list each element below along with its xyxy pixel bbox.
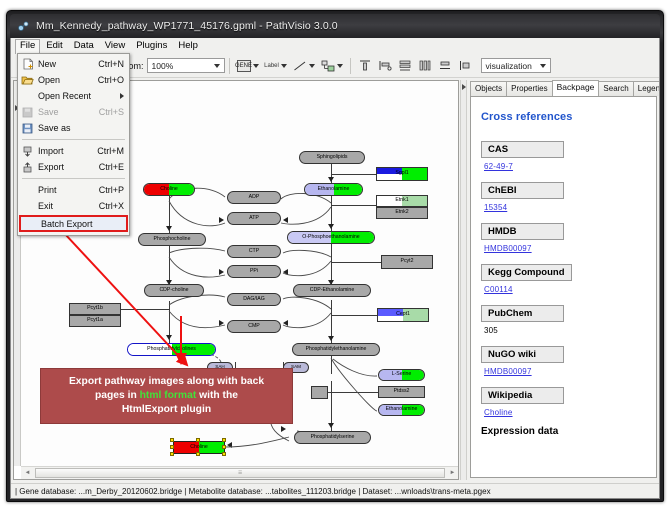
pathway-node-dag-iag[interactable]: DAG/IAG xyxy=(227,293,281,306)
pathway-node-pcyt1b[interactable]: Pcyt1b xyxy=(69,303,121,315)
menu-item-batch-export[interactable]: Batch Export xyxy=(19,215,128,232)
align-left-icon xyxy=(378,59,392,72)
node-label: Pcyt2 xyxy=(401,259,414,264)
menu-item-label: Batch Export xyxy=(41,219,126,229)
menu-item-label: Save as xyxy=(38,123,124,133)
menu-item-label: Exit xyxy=(38,201,99,211)
shape-tool-button[interactable] xyxy=(319,57,337,74)
import-icon xyxy=(20,145,35,158)
pathway-node-etnk1[interactable]: Etnk1 xyxy=(376,195,428,207)
menu-item-label: Open Recent xyxy=(38,91,120,101)
pathway-node-choline[interactable]: Choline xyxy=(143,183,195,196)
node-label: CDP-choline xyxy=(159,288,188,293)
xref-header-nugo-wiki: NuGO wiki xyxy=(481,346,564,363)
line-icon xyxy=(293,60,307,72)
window-titlebar[interactable]: Mm_Kennedy_pathway_WP1771_45176.gpml - P… xyxy=(10,14,660,38)
xref-link-cas[interactable]: 62-49-7 xyxy=(484,162,646,171)
menu-data[interactable]: Data xyxy=(69,39,99,54)
canvas-horizontal-scrollbar[interactable]: ◄ ► xyxy=(21,466,459,479)
menu-separator xyxy=(22,139,125,140)
pathway-node-l-serine[interactable]: L-Serine xyxy=(378,369,425,381)
scroll-thumb[interactable] xyxy=(35,468,445,478)
node-label: Pcyt1a xyxy=(87,318,103,323)
chevron-down-icon xyxy=(540,64,546,68)
pathvisio-icon xyxy=(17,20,30,33)
folder-open-icon xyxy=(20,74,35,87)
pathway-node-cdp-choline[interactable]: CDP-choline xyxy=(144,284,204,297)
xref-header-chebi: ChEBI xyxy=(481,182,564,199)
blank-icon xyxy=(23,217,38,230)
xref-header-hmdb: HMDB xyxy=(481,223,564,240)
toolbar-separator-2 xyxy=(350,58,351,74)
backpage-title: Cross references xyxy=(481,111,646,123)
tab-objects[interactable]: Objects xyxy=(470,81,507,96)
align-columns-button[interactable] xyxy=(416,57,434,74)
application-window: Mm_Kennedy_pathway_WP1771_45176.gpml - P… xyxy=(6,10,664,502)
pathway-node-cmp[interactable]: CMP xyxy=(227,320,281,333)
blank-icon xyxy=(20,90,35,103)
align-rows-button[interactable] xyxy=(396,57,414,74)
file-dropdown-menu[interactable]: New Ctrl+N Open Ctrl+O Open Recen xyxy=(17,53,130,236)
new-document-icon xyxy=(20,58,35,71)
menu-item-print[interactable]: Print Ctrl+P xyxy=(18,182,129,198)
line-tool-button[interactable] xyxy=(291,57,309,74)
xref-link-wikipedia[interactable]: Choline xyxy=(484,408,646,417)
pathway-node-phosphocholine[interactable]: Phosphocholine xyxy=(138,233,206,246)
side-panel-tabstrip: Objects Properties Backpage Search Legen… xyxy=(468,80,659,96)
menu-item-label: Export xyxy=(38,162,99,172)
align-columns-icon xyxy=(418,59,432,72)
selection-handle[interactable] xyxy=(170,438,174,442)
scroll-left-icon[interactable]: ◄ xyxy=(21,467,34,479)
annotation-line-3: HtmlExport plugin xyxy=(122,404,211,415)
desktop-background: Mm_Kennedy_pathway_WP1771_45176.gpml - P… xyxy=(0,0,670,509)
line-dropdown-chevron-icon[interactable] xyxy=(309,64,315,68)
pathway-node-phosphatidylserine[interactable]: Phosphatidylserine xyxy=(294,431,371,444)
gene-tool-button[interactable]: GENE xyxy=(235,57,253,74)
pathway-node-pcyt1a[interactable]: Pcyt1a xyxy=(69,315,121,327)
window-title: Mm_Kennedy_pathway_WP1771_45176.gpml - P… xyxy=(36,20,338,32)
pathway-node-cept1[interactable]: Cept1 xyxy=(377,308,429,322)
node-label: ATP xyxy=(249,216,259,221)
menu-plugins[interactable]: Plugins xyxy=(131,39,172,54)
node-label: Phosphatidylcholines xyxy=(147,347,196,352)
xref-header-wikipedia: Wikipedia xyxy=(481,387,564,404)
stack-horizontal-icon xyxy=(438,59,452,72)
node-label: O-Phosphoethanolamine xyxy=(302,235,359,240)
align-left-button[interactable] xyxy=(376,57,394,74)
node-label: Choline xyxy=(190,445,208,450)
stack-vertical-icon xyxy=(458,59,472,72)
xref-header-kegg-compound: Kegg Compound xyxy=(481,264,572,281)
export-icon xyxy=(20,161,35,174)
node-label: Etnk1 xyxy=(395,198,408,203)
node-label: Pcyt1b xyxy=(87,306,103,311)
menu-item-import[interactable]: Import Ctrl+M xyxy=(18,143,129,159)
menu-item-label: Open xyxy=(38,75,98,85)
gene-dropdown-chevron-icon[interactable] xyxy=(253,64,259,68)
tab-legend[interactable]: Legend xyxy=(633,81,660,96)
xref-link-hmdb[interactable]: HMDB00097 xyxy=(484,244,646,253)
selection-handle[interactable] xyxy=(222,438,226,442)
scroll-right-icon[interactable]: ► xyxy=(446,467,459,479)
node-label: Phosphatidylethanolamine xyxy=(306,347,367,352)
menu-item-accel: Ctrl+X xyxy=(99,201,124,211)
toolbar-separator xyxy=(229,58,230,74)
node-label: Cept1 xyxy=(396,312,410,317)
chevron-down-icon xyxy=(214,64,220,68)
node-label: Choline xyxy=(160,187,178,192)
pathway-node-unlabeled-1[interactable] xyxy=(311,386,328,399)
selection-handle[interactable] xyxy=(196,438,200,442)
pathway-node-atp[interactable]: ATP xyxy=(227,212,281,225)
align-top-button[interactable] xyxy=(356,57,374,74)
menu-item-open[interactable]: Open Ctrl+O xyxy=(18,72,129,88)
pathway-node-phosphatidylcholines[interactable]: Phosphatidylcholines xyxy=(127,343,216,356)
blank-icon xyxy=(20,200,35,213)
selection-handle[interactable] xyxy=(196,452,200,456)
selection-handle[interactable] xyxy=(170,445,174,449)
shape-dropdown-chevron-icon[interactable] xyxy=(337,64,343,68)
label-dropdown-chevron-icon[interactable] xyxy=(281,64,287,68)
menu-item-accel: Ctrl+E xyxy=(99,162,124,172)
xref-value-pubchem: 305 xyxy=(484,326,646,335)
menu-view[interactable]: View xyxy=(100,39,130,54)
label-tool-button[interactable]: Label xyxy=(263,57,281,74)
menu-item-accel: Ctrl+O xyxy=(98,75,124,85)
menu-item-label: Import xyxy=(38,146,97,156)
annotation-line-1: Export pathway images along with back xyxy=(69,376,264,387)
pathway-node-adp[interactable]: ADP xyxy=(227,191,281,204)
annotation-callout: Export pathway images along with back pa… xyxy=(40,368,293,424)
pathway-node-o-phosphoethanolamine[interactable]: O-Phosphoethanolamine xyxy=(287,231,375,244)
visualization-combobox[interactable]: visualization xyxy=(481,58,551,73)
selection-handle[interactable] xyxy=(222,445,226,449)
node-label: Sphingolipids xyxy=(317,155,348,160)
pathway-node-cdp-ethanolamine[interactable]: CDP-Ethanolamine xyxy=(293,284,371,297)
node-label: Ptdss2 xyxy=(394,389,410,394)
menu-item-save: Save Ctrl+S xyxy=(18,104,129,120)
node-label: CMP xyxy=(248,324,260,329)
node-label: CDP-Ethanolamine xyxy=(310,288,354,293)
annotation-line-2-prefix: pages in xyxy=(95,390,140,401)
menu-item-exit[interactable]: Exit Ctrl+X xyxy=(18,198,129,214)
menu-edit[interactable]: Edit xyxy=(41,39,67,54)
zoom-value: 100% xyxy=(152,61,174,71)
node-label: Ethanolamine xyxy=(386,407,418,412)
visualization-value: visualization xyxy=(486,61,532,71)
gene-icon: GENE xyxy=(237,60,251,72)
pathway-node-etnk2[interactable]: Etnk2 xyxy=(376,207,428,219)
save-icon xyxy=(20,106,35,119)
menu-item-label: Print xyxy=(38,185,99,195)
submenu-chevron-icon xyxy=(120,93,124,99)
menu-item-export[interactable]: Export Ctrl+E xyxy=(18,159,129,175)
menu-item-accel: Ctrl+S xyxy=(99,107,124,117)
application-client-area: File Edit Data View Plugins Help Zoom: 1… xyxy=(10,38,660,499)
tab-backpage[interactable]: Backpage xyxy=(552,80,600,96)
node-label: Etnk2 xyxy=(395,210,408,215)
statusbar-text: | Gene database: ...m_Derby_20120602.bri… xyxy=(15,487,491,496)
panel-splitter[interactable] xyxy=(460,80,467,480)
xref-link-nugo-wiki[interactable]: HMDB00097 xyxy=(484,367,646,376)
node-label: ADP xyxy=(249,195,260,200)
side-panel: Objects Properties Backpage Search Legen… xyxy=(468,80,659,480)
pathway-node-ethanolamine[interactable]: Ethanolamine xyxy=(304,183,363,196)
stack-horizontal-button[interactable] xyxy=(436,57,454,74)
node-label: Sgpl1 xyxy=(395,171,408,176)
pathway-node-sphingolipids[interactable]: Sphingolipids xyxy=(299,151,365,164)
align-top-icon xyxy=(358,59,372,72)
align-rows-icon xyxy=(398,59,412,72)
node-label: PPi xyxy=(250,269,258,274)
tab-properties[interactable]: Properties xyxy=(506,81,552,96)
node-label: DAG/IAG xyxy=(243,297,265,302)
node-label: Ethanolamine xyxy=(318,187,350,192)
pathway-node-ptdss2[interactable]: Ptdss2 xyxy=(378,386,425,398)
zoom-combobox[interactable]: 100% xyxy=(147,58,225,73)
menu-item-new[interactable]: New Ctrl+N xyxy=(18,56,129,72)
node-label: CTP xyxy=(249,249,259,254)
stack-vertical-button[interactable] xyxy=(456,57,474,74)
menu-item-save-as[interactable]: Save as xyxy=(18,120,129,136)
selection-handle[interactable] xyxy=(170,452,174,456)
annotation-text: Export pathway images along with back pa… xyxy=(69,375,264,417)
menu-item-accel: Ctrl+N xyxy=(98,59,124,69)
menubar: File Edit Data View Plugins Help xyxy=(11,38,659,54)
annotation-line-2-suffix: with the xyxy=(196,390,238,401)
menu-help[interactable]: Help xyxy=(173,39,203,54)
menu-item-accel: Ctrl+M xyxy=(97,146,124,156)
pathway-node-ppi[interactable]: PPi xyxy=(227,265,281,278)
menu-item-open-recent[interactable]: Open Recent xyxy=(18,88,129,104)
node-label: Phosphocholine xyxy=(154,237,191,242)
xref-link-chebi[interactable]: 15354 xyxy=(484,203,646,212)
annotation-highlight: html format xyxy=(140,390,197,401)
menu-item-label: Save xyxy=(38,107,99,117)
blank-icon xyxy=(20,184,35,197)
save-as-icon xyxy=(20,122,35,135)
pathway-node-ethanolamine-2[interactable]: Ethanolamine xyxy=(378,404,425,416)
xref-header-cas: CAS xyxy=(481,141,564,158)
pathway-node-pcyt2[interactable]: Pcyt2 xyxy=(381,255,433,269)
statusbar: | Gene database: ...m_Derby_20120602.bri… xyxy=(11,483,659,498)
xref-header-pubchem: PubChem xyxy=(481,305,564,322)
menu-item-label: New xyxy=(38,59,98,69)
pathway-node-sgpl1[interactable]: Sgpl1 xyxy=(376,167,428,181)
backpage-panel[interactable]: Cross references CAS 62-49-7 ChEBI 15354… xyxy=(470,96,657,478)
expression-data-heading: Expression data xyxy=(481,426,646,437)
menu-separator-2 xyxy=(22,178,125,179)
menu-item-accel: Ctrl+P xyxy=(99,185,124,195)
selection-handle[interactable] xyxy=(222,452,226,456)
node-label: Phosphatidylserine xyxy=(311,435,355,440)
chevron-right-icon xyxy=(462,84,466,90)
shape-icon xyxy=(321,60,335,72)
tab-search[interactable]: Search xyxy=(598,81,633,96)
xref-link-kegg-compound[interactable]: C00114 xyxy=(484,285,646,294)
pathway-node-phosphatidylethanolamine[interactable]: Phosphatidylethanolamine xyxy=(292,343,380,356)
node-label: L-Serine xyxy=(392,372,412,377)
label-icon: Label xyxy=(264,63,279,69)
pathway-node-ctp[interactable]: CTP xyxy=(227,245,281,258)
menu-file[interactable]: File xyxy=(15,39,40,54)
